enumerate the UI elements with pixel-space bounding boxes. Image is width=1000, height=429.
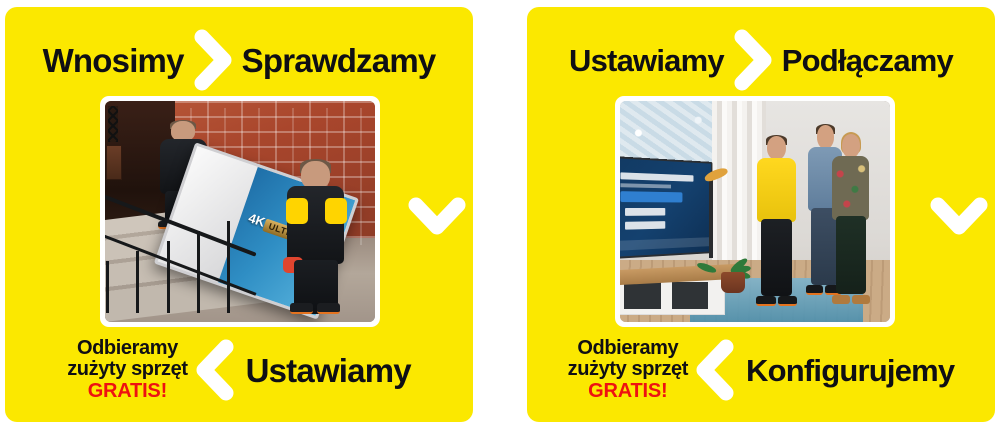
photo-tv-ui-card — [620, 191, 682, 202]
photo-person-head — [842, 134, 860, 158]
chevron-down-icon — [407, 193, 467, 239]
photo-person-trousers — [761, 219, 792, 296]
chevron-right-icon — [192, 29, 234, 91]
photo-tv-ui-bottom-bar — [620, 237, 709, 251]
photo-person-shirt — [757, 158, 796, 222]
step-label-ustawiamy: Ustawiamy — [246, 354, 411, 387]
step-label-konfigurujemy: Konfigurujemy — [746, 355, 954, 386]
photo-plant — [712, 218, 755, 293]
recycle-free-badge: GRATIS! — [568, 381, 688, 402]
chevron-down-icon — [929, 193, 989, 239]
recycle-line-2: zużyty sprzęt — [568, 359, 688, 380]
step-label-sprawdzamy: Sprawdzamy — [242, 44, 436, 77]
photo-frame-living-room — [615, 96, 895, 327]
photo-railing-bar — [105, 193, 257, 257]
service-panel-left: Wnosimy Sprawdzamy — [5, 7, 473, 422]
photo-person-shoe — [852, 295, 870, 303]
photo-worker-head — [301, 161, 330, 190]
bottom-step-row-left: Odbieramy zużyty sprzęt GRATIS! Ustawiam… — [5, 332, 473, 408]
photo-person-shoe — [806, 285, 823, 295]
photo-door-grill — [108, 106, 119, 142]
photo-person-shoe — [756, 296, 775, 306]
photo-door-panel — [106, 145, 121, 180]
photo-railing — [105, 185, 267, 313]
recycle-line-1: Odbieramy — [568, 338, 688, 359]
photo-living-room-setup — [620, 101, 890, 322]
service-panel-right: Ustawiamy Podłączamy — [527, 7, 995, 422]
bottom-step-row-right: Odbieramy zużyty sprzęt GRATIS! Konfigur… — [527, 332, 995, 408]
recycle-offer-right: Odbieramy zużyty sprzęt GRATIS! — [568, 338, 688, 402]
photo-railing-post — [106, 261, 109, 313]
photo-worker-head — [171, 121, 195, 141]
photo-plant-pot — [721, 272, 745, 293]
step-label-wnosimy: Wnosimy — [43, 44, 184, 77]
photo-worker-shoe — [290, 303, 313, 314]
photo-person-shoe — [778, 296, 797, 306]
step-label-ustawiamy-top: Ustawiamy — [569, 45, 724, 76]
photo-railing-post — [197, 231, 200, 313]
chevron-left-icon — [194, 339, 236, 401]
photo-worker-sleeve — [325, 198, 347, 224]
recycle-free-badge: GRATIS! — [67, 381, 187, 402]
photo-carrying-tv: 4K ULTRA HD — [105, 101, 375, 322]
photo-person-shoe — [832, 295, 850, 303]
photo-person-blouse — [832, 156, 869, 220]
top-step-row-left: Wnosimy Sprawdzamy — [5, 29, 473, 91]
recycle-line-1: Odbieramy — [67, 338, 187, 359]
photo-person-woman — [828, 134, 874, 302]
photo-railing-post — [227, 221, 230, 313]
service-steps-banner: Wnosimy Sprawdzamy — [0, 0, 1000, 429]
photo-worker-front — [283, 161, 348, 311]
recycle-offer-left: Odbieramy zużyty sprzęt GRATIS! — [67, 338, 187, 402]
chevron-left-icon — [694, 339, 736, 401]
photo-tv-ui-row — [625, 208, 666, 216]
photo-worker-sleeve — [286, 198, 308, 224]
photo-frame-carrying-tv: 4K ULTRA HD — [100, 96, 380, 327]
photo-person-head — [767, 136, 786, 160]
top-step-row-right: Ustawiamy Podłączamy — [527, 29, 995, 91]
photo-television-screen — [620, 156, 712, 259]
photo-person-installer — [752, 136, 801, 304]
chevron-right-icon — [732, 29, 774, 91]
photo-person-trousers — [836, 216, 865, 293]
photo-railing-bar — [105, 233, 256, 296]
photo-worker-shoe — [317, 303, 340, 314]
photo-tv-ui-subtitle — [620, 183, 671, 188]
photo-tv-ui-title — [620, 173, 693, 182]
step-label-podlaczamy: Podłączamy — [782, 45, 953, 76]
recycle-line-2: zużyty sprzęt — [67, 359, 187, 380]
photo-tv-ui-row — [625, 221, 666, 229]
photo-railing-post — [167, 241, 170, 313]
photo-railing-post — [136, 251, 139, 313]
